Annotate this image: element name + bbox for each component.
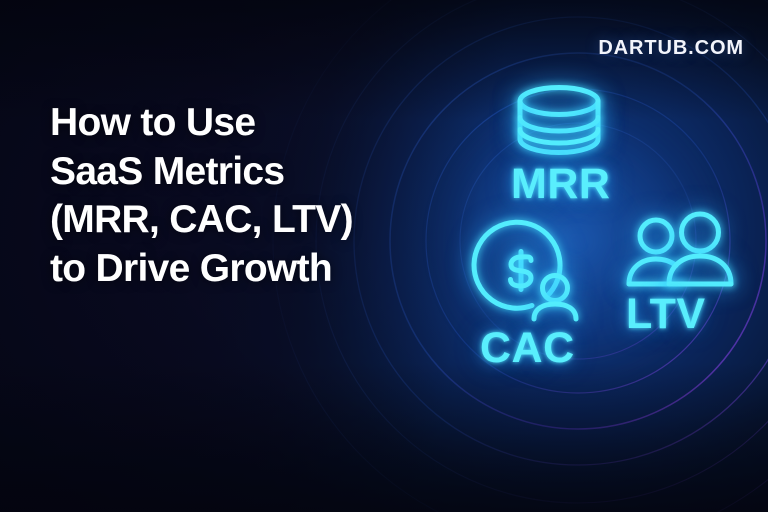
database-cylinder-icon [505,84,617,160]
title-line-3: (MRR, CAC, LTV) [50,196,422,245]
title-line-1: How to Use [50,99,422,148]
page-title: How to Use SaaS Metrics (MRR, CAC, LTV) … [50,99,422,293]
site-watermark: DARTUB.COM [598,37,744,60]
dollar-circle-person-icon [466,224,584,324]
title-line-4: to Drive Growth [50,245,422,294]
metric-ltv: LTV [622,214,740,292]
metric-mrr: MRR [505,84,617,160]
metric-cac: CAC [466,224,584,324]
metric-mrr-label: MRR [511,160,610,209]
title-line-2: SaaS Metrics [50,148,422,197]
background-bottom-fade [0,362,768,512]
metric-cac-label: CAC [480,324,575,373]
metric-ltv-label: LTV [626,290,706,339]
two-people-group-icon [622,214,740,292]
graphic-canvas: DARTUB.COM How to Use SaaS Metrics (MRR,… [0,0,768,512]
